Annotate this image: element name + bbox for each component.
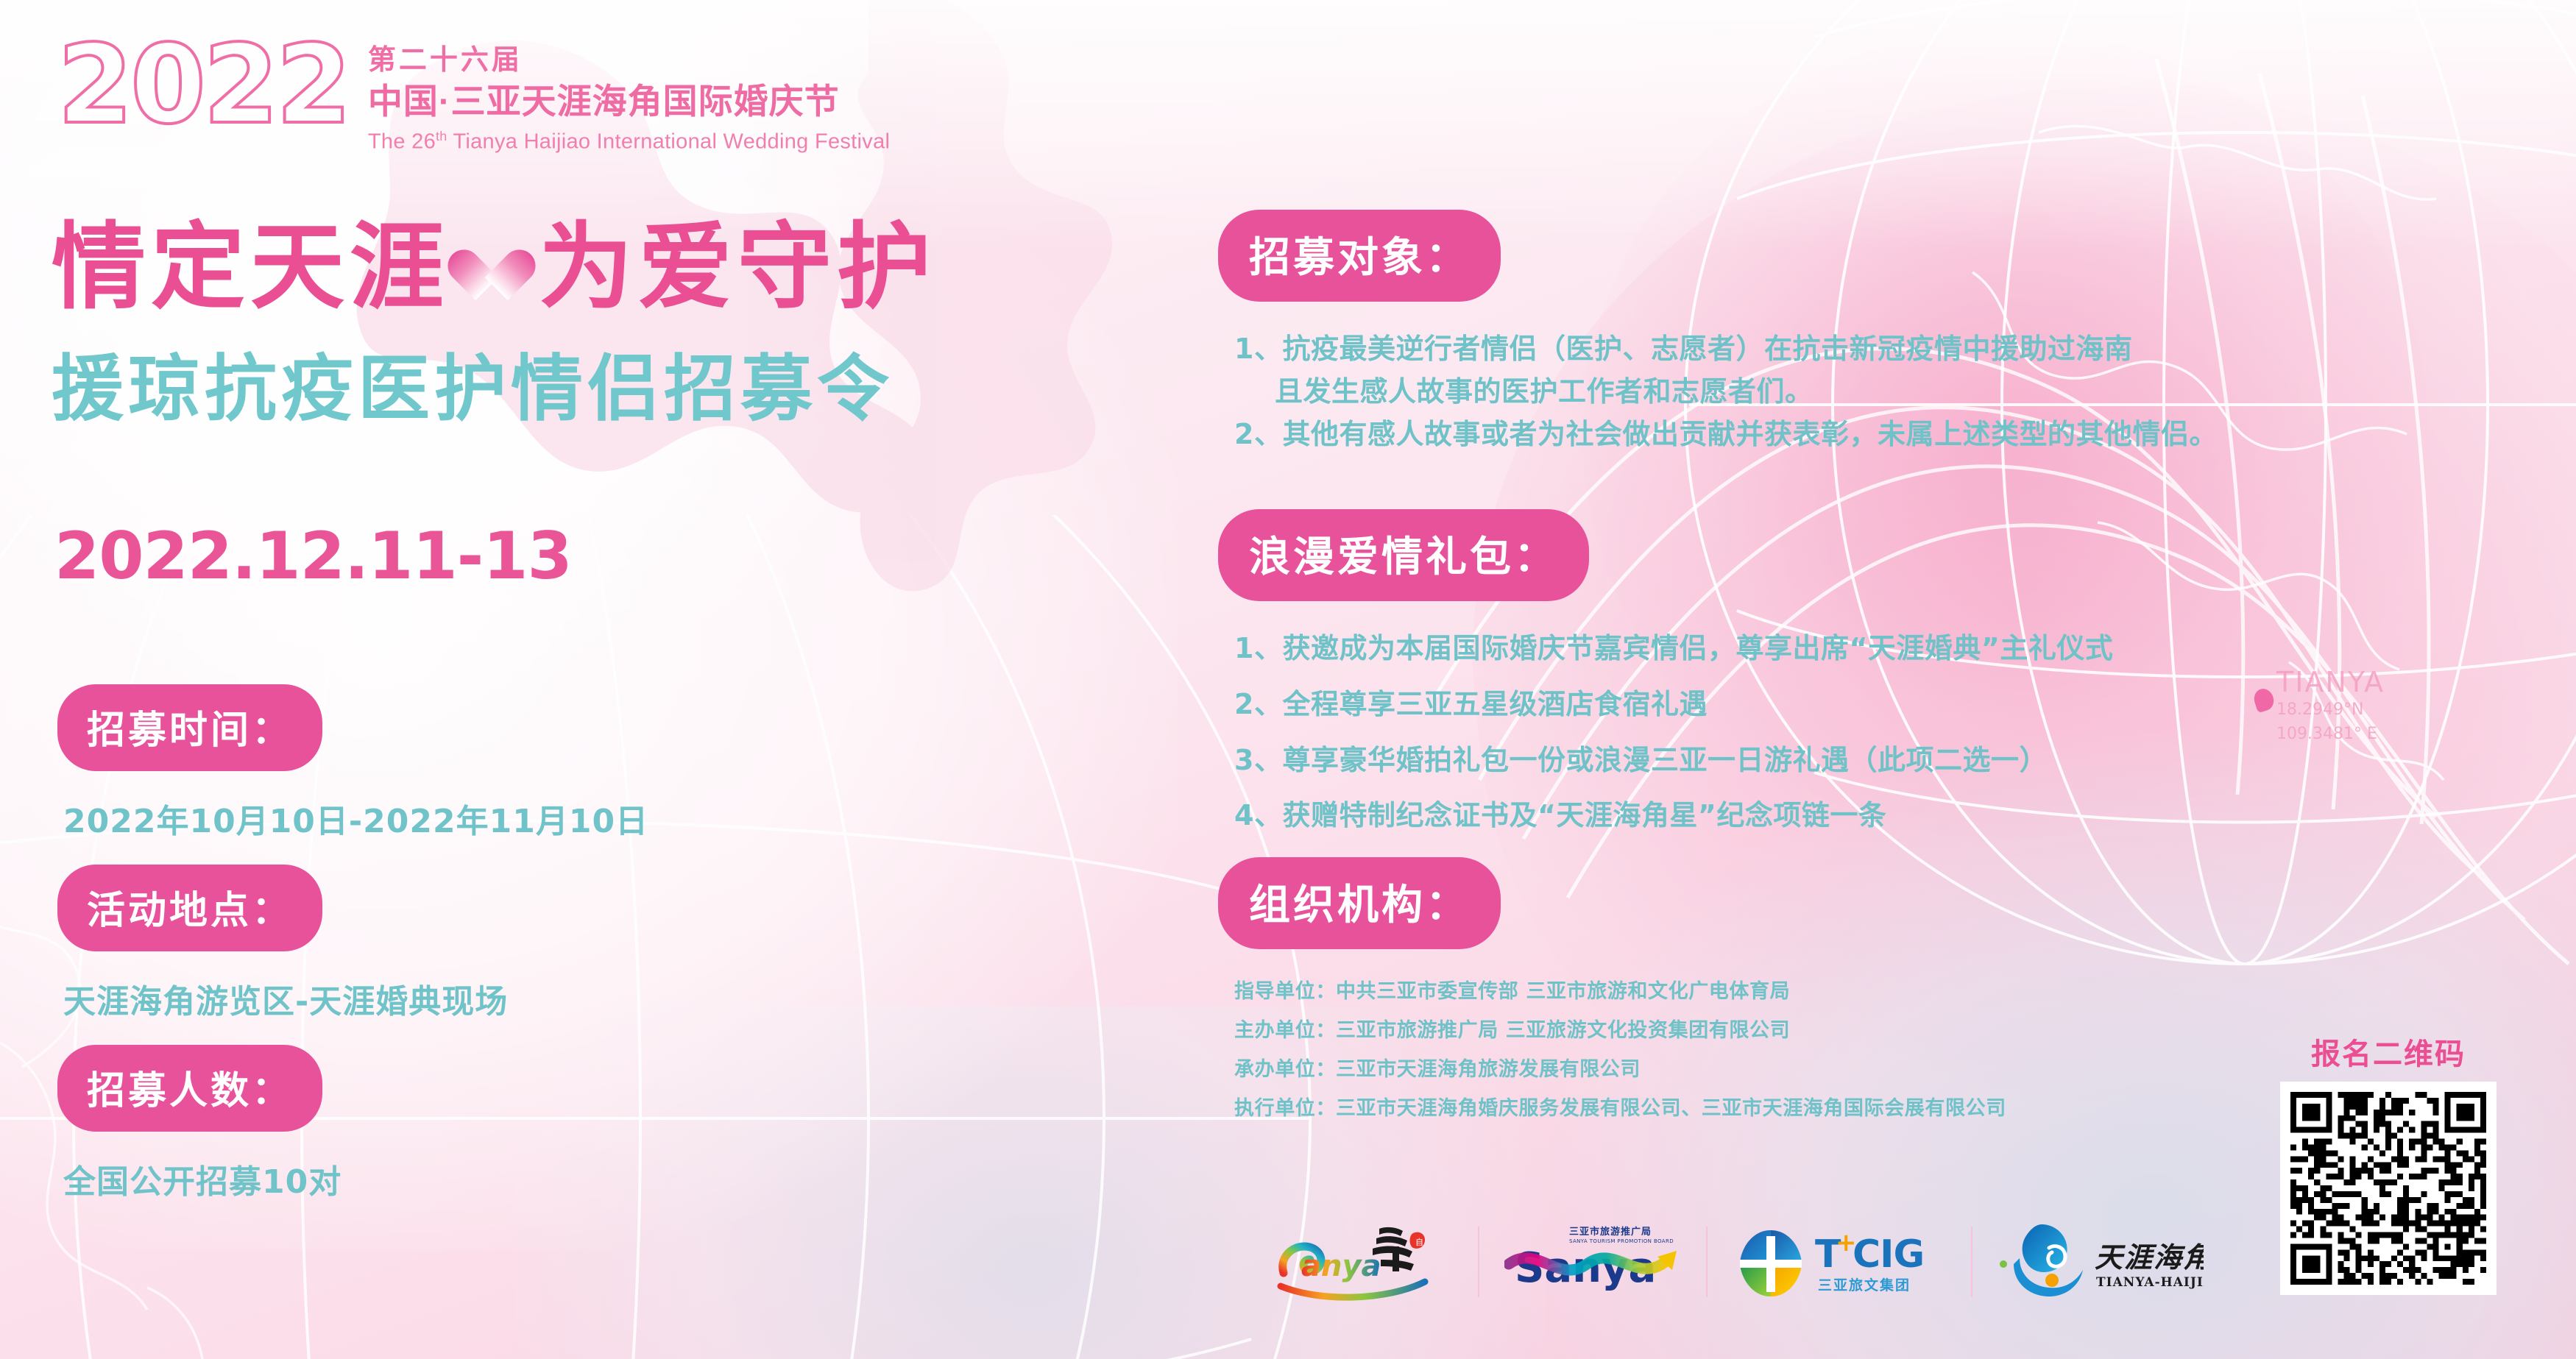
list-item: 1、获邀成为本届国际婚庆节嘉宾情侣，尊享出席“天涯婚典”主礼仪式 [1234, 628, 2113, 670]
list-item-continuation: 且发生感人故事的医护工作者和志愿者们。 [1234, 371, 2218, 414]
list-item-number: 2、 [1234, 688, 1282, 720]
festival-title-cn: 中国·三亚天涯海角国际婚庆节 [368, 79, 890, 124]
list-item: 2、其他有感人故事或者为社会做出贡献并获表彰，未属上述类型的其他情侣。 [1234, 414, 2218, 456]
badge-venue: 活动地点： [57, 865, 322, 951]
sanya-brand-logo: anya 自 [1244, 1218, 1478, 1306]
qr-code-container[interactable] [2280, 1082, 2497, 1295]
list-item: 2、全程尊享三亚五星级酒店食宿礼遇 [1234, 684, 2113, 726]
info-block-recruitment-count: 招募人数： 全国公开招募10对 [57, 1045, 342, 1202]
badge-organization: 组织机构： [1218, 857, 1501, 949]
recruitment-target-list: 1、抗疫最美逆行者情侣（医护、志愿者）在抗击新冠疫情中援助过海南 且发生感人故事… [1234, 328, 2218, 455]
festival-header-lockup: 2022 第二十六届 中国·三亚天涯海角国际婚庆节 The 26th Tiany… [57, 38, 890, 155]
section-love-package: 浪漫爱情礼包： 1、获邀成为本届国际婚庆节嘉宾情侣，尊享出席“天涯婚典”主礼仪式… [1218, 509, 2113, 851]
headline-right-phrase: 为爱守护 [539, 221, 936, 315]
svg-text:自: 自 [1415, 1238, 1423, 1247]
organization-line: 主办单位：三亚市旅游推广局 三亚旅游文化投资集团有限公司 [1234, 1021, 2006, 1040]
organization-line: 指导单位：中共三亚市委宣传部 三亚市旅游和文化广电体育局 [1234, 982, 2006, 1001]
svg-text:CIG: CIG [1853, 1232, 1924, 1277]
tianya-map-marker: TIANYA 18.2949°N 109.3481° E [2276, 668, 2385, 745]
qr-code-icon[interactable] [2290, 1092, 2486, 1285]
list-item-text: 全程尊享三亚五星级酒店食宿礼遇 [1282, 688, 1708, 720]
info-block-recruitment-time: 招募时间： 2022年10月10日-2022年11月10日 [57, 684, 648, 842]
qr-title: 报名二维码 [2280, 1030, 2497, 1073]
list-item-number: 1、 [1234, 333, 1282, 365]
partner-logo-strip: anya 自 [1244, 1218, 2229, 1306]
svg-text:三亚旅文集团: 三亚旅文集团 [1818, 1277, 1911, 1294]
badge-love-package: 浪漫爱情礼包： [1218, 509, 1589, 601]
svg-text:anya: anya [1301, 1249, 1381, 1283]
headline-left-phrase: 情定天涯 [52, 221, 449, 315]
tianya-marker-lat: 18.2949°N [2276, 700, 2385, 720]
value-venue: 天涯海角游览区-天涯婚典现场 [63, 975, 508, 1022]
tianya-map-pin-icon [2251, 686, 2276, 714]
svg-text:三亚市旅游推广局: 三亚市旅游推广局 [1569, 1226, 1652, 1238]
list-item: 3、尊享豪华婚拍礼包一份或浪漫三亚一日游礼遇（此项二选一） [1234, 739, 2113, 782]
festival-edition: 第二十六届 [368, 44, 890, 77]
svg-text:TIANYA-HAIJIAO: TIANYA-HAIJIAO [2096, 1275, 2204, 1290]
organization-lines: 指导单位：中共三亚市委宣传部 三亚市旅游和文化广电体育局 主办单位：三亚市旅游推… [1234, 982, 2006, 1118]
list-item-text: 尊享豪华婚拍礼包一份或浪漫三亚一日游礼遇（此项二选一） [1282, 744, 2048, 776]
flow-wave-lines-decoration [1435, 0, 2576, 1001]
organization-line: 执行单位：三亚市天涯海角婚庆服务发展有限公司、三亚市天涯海角国际会展有限公司 [1234, 1099, 2006, 1118]
badge-recruitment-time: 招募时间： [57, 684, 322, 771]
tianya-marker-name: TIANYA [2276, 668, 2385, 696]
qr-registration-block: 报名二维码 [2280, 1030, 2497, 1295]
tianya-haijiao-logo: 天涯海角 TIANYA-HAIJIAO [1972, 1218, 2229, 1306]
badge-recruitment-target: 招募对象： [1218, 210, 1501, 302]
organization-line: 承办单位：三亚市天涯海角旅游发展有限公司 [1234, 1060, 2006, 1079]
love-package-list: 1、获邀成为本届国际婚庆节嘉宾情侣，尊享出席“天涯婚典”主礼仪式 2、全程尊享三… [1234, 628, 2113, 837]
list-item-text: 获邀成为本届国际婚庆节嘉宾情侣，尊享出席“天涯婚典”主礼仪式 [1282, 632, 2113, 664]
tianya-marker-lon: 109.3481° E [2276, 725, 2385, 745]
list-item: 1、抗疫最美逆行者情侣（医护、志愿者）在抗击新冠疫情中援助过海南 且发生感人故事… [1234, 328, 2218, 414]
event-date: 2022.12.11-13 [54, 524, 572, 589]
year-mark: 2022 [57, 38, 349, 132]
sanya-tourism-promotion-board-logo: 三亚市旅游推广局 SANYA TOURISM PROMOTION BOARD S… [1479, 1218, 1706, 1306]
list-item-text: 获赠特制纪念证书及“天涯海角星”纪念项链一条 [1282, 799, 1886, 831]
value-recruitment-time: 2022年10月10日-2022年11月10日 [63, 795, 648, 842]
list-item-text: 抗疫最美逆行者情侣（医护、志愿者）在抗击新冠疫情中援助过海南 [1282, 333, 2132, 365]
festival-title-en: The 26th Tianya Haijiao International We… [368, 129, 890, 155]
list-item-number: 2、 [1234, 418, 1282, 450]
info-block-venue: 活动地点： 天涯海角游览区-天涯婚典现场 [57, 865, 508, 1022]
headline-primary: 情定天涯 为爱守护 [52, 221, 936, 315]
headline-secondary: 援琼抗疫医护情侣招募令 [52, 353, 894, 425]
svg-text:天涯海角: 天涯海角 [2095, 1241, 2204, 1274]
list-item: 4、获赠特制纪念证书及“天涯海角星”纪念项链一条 [1234, 795, 2113, 837]
section-recruitment-target: 招募对象： 1、抗疫最美逆行者情侣（医护、志愿者）在抗击新冠疫情中援助过海南 且… [1218, 210, 2218, 455]
tcig-logo: T + CIG 三亚旅文集团 [1708, 1218, 1971, 1306]
festival-title-group: 第二十六届 中国·三亚天涯海角国际婚庆节 The 26th Tianya Hai… [368, 38, 890, 155]
value-recruitment-count: 全国公开招募10对 [63, 1155, 342, 1202]
section-organization: 组织机构： 指导单位：中共三亚市委宣传部 三亚市旅游和文化广电体育局 主办单位：… [1218, 857, 2006, 1138]
list-item-number: 3、 [1234, 744, 1282, 776]
svg-text:SANYA TOURISM PROMOTION BOARD: SANYA TOURISM PROMOTION BOARD [1569, 1238, 1674, 1244]
list-item-number: 1、 [1234, 632, 1282, 664]
badge-recruitment-count: 招募人数： [57, 1045, 322, 1132]
heart-icon [461, 247, 524, 306]
list-item-text: 其他有感人故事或者为社会做出贡献并获表彰，未属上述类型的其他情侣。 [1282, 418, 2218, 450]
list-item-number: 4、 [1234, 799, 1282, 831]
poster-canvas: 2022 第二十六届 中国·三亚天涯海角国际婚庆节 The 26th Tiany… [0, 0, 2576, 1359]
